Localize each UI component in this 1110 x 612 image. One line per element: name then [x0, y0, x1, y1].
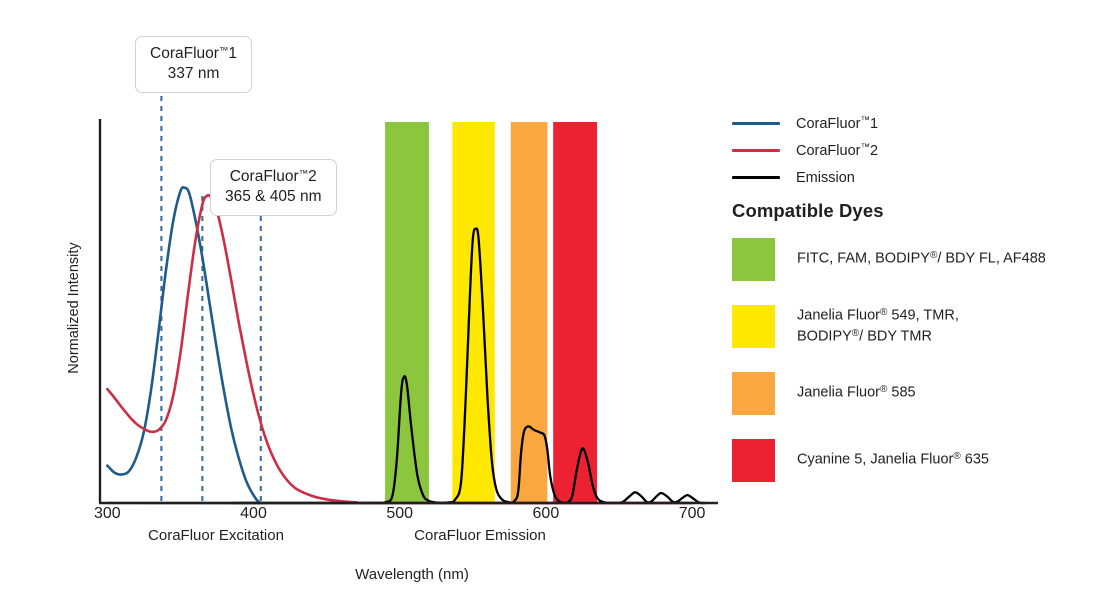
dye-item-label: Janelia Fluor® 585 [797, 383, 916, 403]
yellow-band [452, 122, 494, 503]
dye-item-label: Janelia Fluor® 549, TMR,BODIPY®/ BDY TMR [797, 306, 959, 346]
x-axis-title: Wavelength (nm) [262, 566, 562, 583]
dye-color-swatch [732, 238, 775, 281]
x-tick-600: 600 [511, 505, 581, 523]
y-axis-title: Normalized Intensity [66, 228, 82, 388]
legend-item-label: CoraFluor™1 [796, 115, 878, 132]
x-tick-300: 300 [72, 505, 142, 523]
x-tick-700: 700 [657, 505, 727, 523]
callout-corafluor-2: CoraFluor™2 365 & 405 nm [210, 159, 337, 216]
dye-item-3[interactable]: Cyanine 5, Janelia Fluor® 635 [732, 435, 1102, 486]
callout-cf2-line2: 365 & 405 nm [225, 187, 322, 207]
x-axis-sublabel-excitation: CoraFluor Excitation [128, 527, 304, 544]
callout-cf1-line1: CoraFluor™1 [150, 45, 237, 62]
callout-corafluor-1: CoraFluor™1 337 nm [135, 36, 252, 93]
dye-item-label: FITC, FAM, BODIPY®/ BDY FL, AF488 [797, 249, 1046, 269]
dye-item-2[interactable]: Janelia Fluor® 585 [732, 368, 1102, 419]
dye-color-swatch [732, 372, 775, 415]
green-band [385, 122, 429, 503]
dye-item-label: Cyanine 5, Janelia Fluor® 635 [797, 450, 989, 470]
legend-line-swatch [732, 176, 780, 179]
callout-cf1-line2: 337 nm [150, 64, 237, 84]
series-legend: CoraFluor™1CoraFluor™2Emission [732, 110, 1092, 191]
chart-figure: CoraFluor™1 337 nm CoraFluor™2 365 & 405… [0, 0, 1110, 612]
dye-item-0[interactable]: FITC, FAM, BODIPY®/ BDY FL, AF488 [732, 234, 1102, 285]
red-band [553, 122, 597, 503]
dye-color-swatch [732, 439, 775, 482]
legend-item-1[interactable]: CoraFluor™2 [732, 137, 1092, 164]
dye-item-1[interactable]: Janelia Fluor® 549, TMR,BODIPY®/ BDY TMR [732, 301, 1102, 352]
x-tick-400: 400 [219, 505, 289, 523]
legend-item-label: Emission [796, 170, 855, 186]
compatible-dyes-title: Compatible Dyes [732, 200, 884, 222]
legend-item-0[interactable]: CoraFluor™1 [732, 110, 1092, 137]
legend-line-swatch [732, 149, 780, 152]
legend-line-swatch [732, 122, 780, 125]
x-tick-500: 500 [365, 505, 435, 523]
dye-color-swatch [732, 305, 775, 348]
orange-band [511, 122, 548, 503]
callout-cf2-line1: CoraFluor™2 [230, 168, 317, 185]
x-axis-sublabel-emission: CoraFluor Emission [400, 527, 560, 544]
legend-item-label: CoraFluor™2 [796, 142, 878, 159]
compatible-dyes-list: FITC, FAM, BODIPY®/ BDY FL, AF488Janelia… [732, 234, 1102, 502]
legend-item-2[interactable]: Emission [732, 164, 1092, 191]
